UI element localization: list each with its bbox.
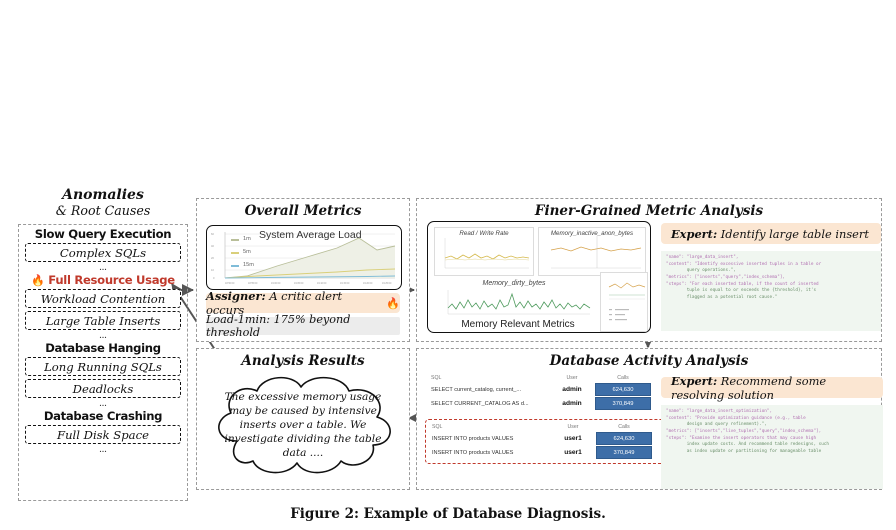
anomaly-list-box: Slow Query Execution Complex SQLs ... 🔥 … <box>18 224 188 501</box>
legend-swatch-5m <box>231 252 239 254</box>
mini-chart-extra[interactable] <box>600 272 648 332</box>
svg-text:19:00:00: 19:00:00 <box>271 282 281 285</box>
legend-label-15m: 15m <box>243 262 254 268</box>
cell-user: admin <box>549 400 595 407</box>
mini-chart-memory-inactive-anon-bytes[interactable]: Memory_inactive_anon_bytes <box>538 227 646 276</box>
column-header-sql[interactable]: SQL <box>431 375 549 381</box>
svg-text:19:10:00: 19:10:00 <box>317 282 327 285</box>
svg-text:19:05:00: 19:05:00 <box>294 282 304 285</box>
expert-role: Expert: <box>671 374 717 388</box>
system-average-load-chart[interactable]: System Average Load 6040 <box>206 225 402 290</box>
activity-table-bottom[interactable]: SQL User Calls INSERT INTO products VALU… <box>432 424 658 459</box>
column-header-calls[interactable]: Calls <box>596 424 652 430</box>
figure-caption: Figure 2: Example of Database Diagnosis. <box>0 506 896 522</box>
overall-metrics-panel: Overall Metrics System Average Load <box>196 198 410 342</box>
cell-sql: INSERT INTO products VALUES <box>432 436 550 442</box>
expert-bar-identify[interactable]: Expert: Identify large table insert <box>661 223 881 244</box>
cell-calls: 624,630 <box>595 383 651 396</box>
anomaly-category-database-hanging[interactable]: Database Hanging <box>19 341 187 355</box>
svg-text:19:20:00: 19:20:00 <box>363 282 373 285</box>
table-header-row: SQL User Calls <box>432 424 658 432</box>
table-row[interactable]: SELECT CURRENT_CATALOG AS d... admin 370… <box>431 397 657 410</box>
cell-calls: 370,849 <box>596 446 652 459</box>
svg-text:60: 60 <box>211 232 214 236</box>
anomaly-item-deadlocks[interactable]: Deadlocks <box>25 379 181 398</box>
calls-value: 370,849 <box>596 446 652 459</box>
svg-text:40: 40 <box>211 244 214 248</box>
anomaly-item-workload-contention[interactable]: Workload Contention <box>25 289 181 308</box>
anomaly-item-large-table-inserts[interactable]: Large Table Inserts <box>25 311 181 330</box>
json-line-1: "name": "large_data_insert_optimization"… <box>666 409 772 414</box>
column-header-sql[interactable]: SQL <box>432 424 550 430</box>
column-header-user[interactable]: User <box>549 375 595 381</box>
table-header-row: SQL User Calls <box>431 375 657 383</box>
anomaly-category-slow-query[interactable]: Slow Query Execution <box>19 227 187 241</box>
assigner-alert-bar[interactable]: Assigner: A critic alert occurs 🔥 <box>206 293 400 313</box>
svg-text:19:15:00: 19:15:00 <box>340 282 350 285</box>
json-line-2: "content": "Identify excessive inserted … <box>666 262 821 267</box>
json-line-1: "name": "large_data_insert", <box>666 255 738 260</box>
expert-message: Identify large table insert <box>721 227 869 241</box>
thought-cloud: The excessive memory usage may be caused… <box>201 369 405 485</box>
json-line-5: "steps": "For each inserted table, if th… <box>666 282 819 287</box>
table-row[interactable]: INSERT INTO products VALUES user1 624,63… <box>432 432 658 445</box>
database-activity-panel: Database Activity Analysis SQL User Call… <box>416 348 882 490</box>
expert-json-recommend: "name": "large_data_insert_optimization"… <box>661 405 883 489</box>
svg-text:18:55:00: 18:55:00 <box>248 282 258 285</box>
ellipsis-2: ... <box>19 333 187 339</box>
anomalies-panel: Anomalies & Root Causes Slow Query Execu… <box>18 186 188 501</box>
svg-text:0: 0 <box>213 276 215 280</box>
expert-bar-recommend[interactable]: Expert: Recommend some resolving solutio… <box>661 377 883 398</box>
cell-sql: SELECT current_catalog, current_... <box>431 387 549 393</box>
activity-table-top[interactable]: SQL User Calls SELECT current_catalog, c… <box>431 375 657 411</box>
anomaly-item-complex-sqls[interactable]: Complex SQLs <box>25 243 181 262</box>
legend-swatch-1m <box>231 239 239 241</box>
cell-sql: SELECT CURRENT_CATALOG AS d... <box>431 401 549 407</box>
expert-text: Expert: Recommend some resolving solutio… <box>671 374 883 402</box>
cell-sql: INSERT INTO products VALUES <box>432 450 550 456</box>
ellipsis-1: ... <box>19 265 187 271</box>
legend-swatch-15m <box>231 265 239 267</box>
expert-role: Expert: <box>671 227 717 241</box>
json-line-7: as index update or partitioning for mana… <box>666 449 821 454</box>
calls-value: 370,849 <box>595 397 651 410</box>
anomaly-category-database-crashing[interactable]: Database Crashing <box>19 409 187 423</box>
json-line-7: flagged as a potential root cause." <box>666 295 777 300</box>
json-line-5: "steps": "Examine the insert operators t… <box>666 436 816 441</box>
calls-value: 624,630 <box>596 432 652 445</box>
analysis-results-panel: Analysis Results The excessive memory us… <box>196 348 410 490</box>
json-line-4: "metrics": ["inserts","live_tuples","que… <box>666 429 821 434</box>
json-line-6: index update costs. And recommend table … <box>666 442 829 447</box>
svg-text:19:25:00: 19:25:00 <box>382 282 392 285</box>
json-line-4: "metrics": ["inserts","query","index_sch… <box>666 275 785 280</box>
ellipsis-3: ... <box>19 401 187 407</box>
column-header-user[interactable]: User <box>550 424 596 430</box>
finer-grained-title: Finer-Grained Metric Analysis <box>417 203 881 219</box>
mini-chart-title: Read / Write Rate <box>435 230 533 237</box>
threshold-status: Load-1min: 175% beyond threshold <box>206 317 400 335</box>
expert-text: Expert: Identify large table insert <box>671 227 869 241</box>
json-line-3: query operations.", <box>666 268 736 273</box>
mini-chart-title: Memory_inactive_anon_bytes <box>539 230 645 237</box>
anomalies-subtitle: & Root Causes <box>18 204 188 218</box>
flame-icon: 🔥 <box>31 274 44 287</box>
legend-label-1m: 1m <box>243 236 251 242</box>
analysis-cloud-text: The excessive memory usage may be caused… <box>223 391 383 461</box>
anomaly-category-label: Full Resource Usage <box>48 273 175 287</box>
cell-calls: 624,630 <box>596 432 652 445</box>
cell-calls: 370,849 <box>595 397 651 410</box>
cell-user: user1 <box>550 449 596 456</box>
cell-user: admin <box>549 386 595 393</box>
metric-board[interactable]: Read / Write Rate Memory_inactive_anon_b… <box>427 221 651 333</box>
table-row[interactable]: SELECT current_catalog, current_... admi… <box>431 383 657 396</box>
memory-relevant-metrics-label: Memory Relevant Metrics <box>428 319 608 330</box>
anomalies-heading: Anomalies & Root Causes <box>18 188 188 218</box>
calls-value: 624,630 <box>595 383 651 396</box>
mini-chart-title: Memory_dirty_bytes <box>434 280 594 287</box>
cell-user: user1 <box>550 435 596 442</box>
database-activity-title: Database Activity Analysis <box>417 353 881 369</box>
svg-text:10: 10 <box>211 268 214 272</box>
overall-metrics-title: Overall Metrics <box>197 203 409 219</box>
mini-chart-read-write-rate[interactable]: Read / Write Rate <box>434 227 534 276</box>
svg-text:20: 20 <box>211 256 214 260</box>
figure-canvas: Anomalies & Root Causes Slow Query Execu… <box>0 186 896 504</box>
anomaly-category-full-resource-usage[interactable]: 🔥 Full Resource Usage <box>19 273 187 287</box>
flame-icon: 🔥 <box>386 297 400 310</box>
assigner-role: Assigner: <box>206 289 266 303</box>
anomalies-title: Anomalies <box>18 188 188 204</box>
threshold-text: Load-1min: 175% beyond threshold <box>206 313 400 339</box>
json-line-3: design and query refinement).", <box>666 422 767 427</box>
anomaly-item-long-running-sqls[interactable]: Long Running SQLs <box>25 357 181 376</box>
finer-grained-panel: Finer-Grained Metric Analysis Read / Wri… <box>416 198 882 342</box>
anomaly-item-full-disk-space[interactable]: Full Disk Space <box>25 425 181 444</box>
table-row[interactable]: INSERT INTO products VALUES user1 370,84… <box>432 446 658 459</box>
legend-label-5m: 5m <box>243 249 251 255</box>
ellipsis-4: ... <box>19 447 187 453</box>
extra-sparkline <box>601 273 647 331</box>
column-header-calls[interactable]: Calls <box>595 375 651 381</box>
json-line-2: "content": "Provide optimization guidanc… <box>666 416 806 421</box>
insert-table-highlight: SQL User Calls INSERT INTO products VALU… <box>425 419 667 464</box>
svg-text:18:50:00: 18:50:00 <box>225 282 235 285</box>
json-line-6: tuple is equal to or exceeds the {thresh… <box>666 288 816 293</box>
chart-title: System Average Load <box>259 229 362 241</box>
analysis-results-title: Analysis Results <box>197 353 409 369</box>
expert-json-identify: "name": "large_data_insert", "content": … <box>661 251 881 331</box>
